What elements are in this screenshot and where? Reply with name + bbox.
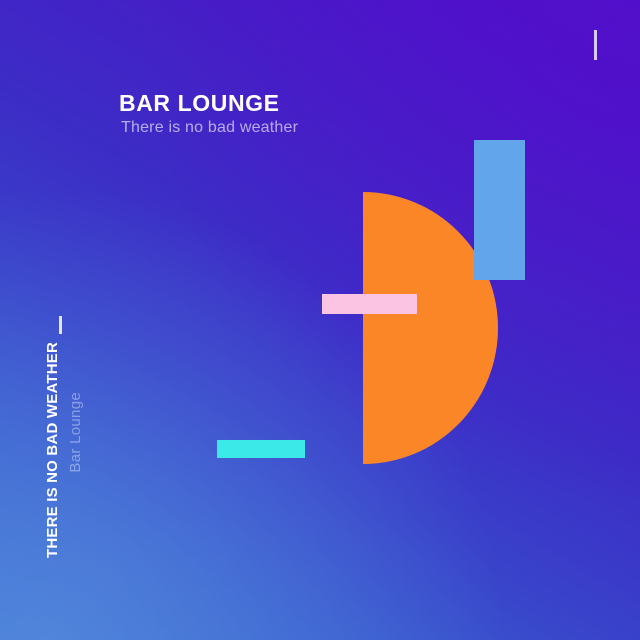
light-blue-rectangle-shape (474, 140, 525, 280)
vertical-brand-name: Bar Lounge (67, 392, 84, 473)
pink-horizontal-bar-shape (322, 294, 417, 314)
vertical-tagline: THERE IS NO BAD WEATHER (44, 342, 61, 558)
cyan-horizontal-bar-shape (217, 440, 305, 458)
headline-block: BAR LOUNGE There is no bad weather (119, 92, 298, 137)
page-title: BAR LOUNGE (119, 92, 298, 115)
page-subtitle: There is no bad weather (121, 119, 298, 137)
top-right-tick-mark-icon (594, 30, 597, 60)
left-dash-mark-icon (59, 316, 62, 334)
poster-canvas: BAR LOUNGE There is no bad weather THERE… (0, 0, 640, 640)
vertical-text-block: THERE IS NO BAD WEATHER Bar Lounge (44, 342, 84, 572)
